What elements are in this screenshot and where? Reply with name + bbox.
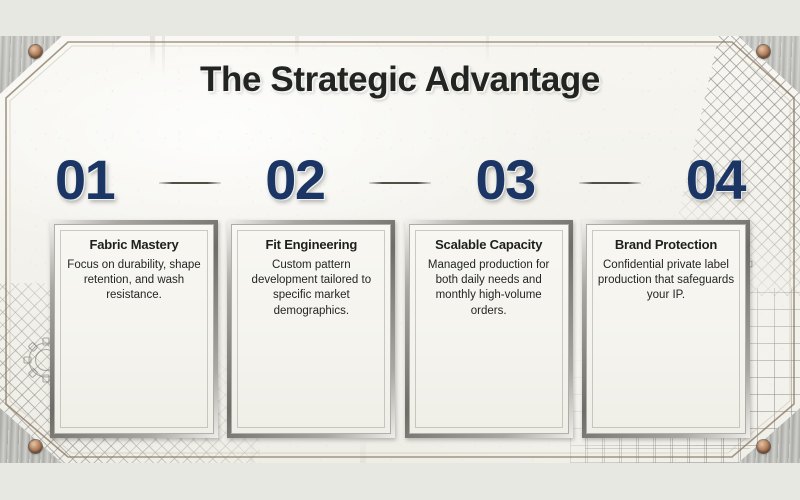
- step-card-fit-engineering: Fit Engineering Custom pattern developme…: [227, 220, 395, 438]
- step-number-cell: 04: [686, 152, 745, 208]
- letterbox-top: [0, 0, 800, 36]
- step-connector-dash: [369, 182, 431, 184]
- rivet-icon: [757, 440, 770, 453]
- step-card-title: Scalable Capacity: [419, 237, 559, 252]
- rivet-icon: [29, 45, 42, 58]
- step-card-inner: Brand Protection Confidential private la…: [586, 224, 746, 434]
- step-number-03: 03: [475, 152, 534, 208]
- step-card-fabric-mastery: Fabric Mastery Focus on durability, shap…: [50, 220, 218, 438]
- poster-stage: The Strategic Advantage 01 02 03 04: [0, 0, 800, 500]
- rivet-icon: [29, 440, 42, 453]
- step-card-body: Confidential private label production th…: [596, 258, 736, 304]
- step-number-row: 01 02 03 04: [55, 141, 745, 219]
- step-number-02: 02: [265, 152, 324, 208]
- letterbox-bottom: [0, 463, 800, 500]
- step-card-inner: Fit Engineering Custom pattern developme…: [231, 224, 391, 434]
- step-card-title: Fabric Mastery: [64, 237, 204, 252]
- step-number-cell: 02: [265, 152, 324, 208]
- step-card-scalable-capacity: Scalable Capacity Managed production for…: [405, 220, 573, 438]
- rivet-icon: [757, 45, 770, 58]
- step-connector-dash: [579, 182, 641, 184]
- metal-backing-plate: The Strategic Advantage 01 02 03 04: [0, 36, 800, 463]
- step-number-cell: 01: [55, 152, 114, 208]
- step-card-title: Fit Engineering: [241, 237, 381, 252]
- step-card-brand-protection: Brand Protection Confidential private la…: [582, 220, 750, 438]
- paper-poster: The Strategic Advantage 01 02 03 04: [0, 36, 800, 463]
- step-card-body: Focus on durability, shape retention, an…: [64, 258, 204, 304]
- step-card-inner: Scalable Capacity Managed production for…: [409, 224, 569, 434]
- step-number-cell: 03: [475, 152, 534, 208]
- step-number-04: 04: [686, 152, 745, 208]
- step-card-body: Managed production for both daily needs …: [419, 258, 559, 319]
- page-title: The Strategic Advantage: [0, 60, 800, 100]
- step-card-inner: Fabric Mastery Focus on durability, shap…: [54, 224, 214, 434]
- step-card-row: Fabric Mastery Focus on durability, shap…: [50, 220, 750, 438]
- step-card-title: Brand Protection: [596, 237, 736, 252]
- step-connector-dash: [159, 182, 221, 184]
- step-number-01: 01: [55, 152, 114, 208]
- step-card-body: Custom pattern development tailored to s…: [241, 258, 381, 319]
